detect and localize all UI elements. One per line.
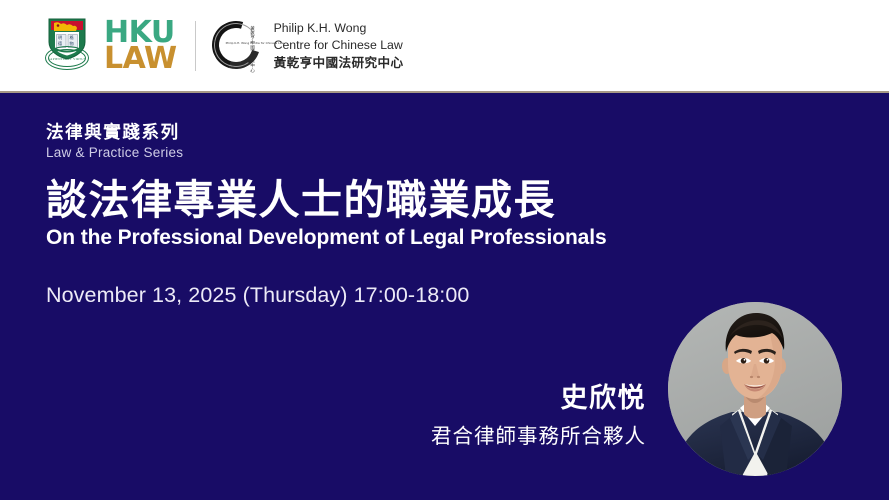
series-title-zh: 法律與實踐系列 [46, 119, 180, 144]
logo-row: 明德 格物 SAPIENTIA ET VIRTUS HKU LAW Phi [44, 16, 404, 76]
speaker-name: 史欣悦 [561, 376, 647, 415]
event-title-zh: 談法律專業人士的職業成長 [46, 178, 556, 223]
hku-law-wordmark: HKU LAW [104, 20, 177, 73]
event-datetime: November 13, 2025 (Thursday) 17:00-18:00 [46, 283, 470, 308]
series-title-en: Law & Practice Series [46, 145, 183, 160]
hku-crest-icon: 明德 格物 SAPIENTIA ET VIRTUS [44, 16, 90, 76]
enso-vertical-text: 黃乾亨中國法研究中心 [249, 28, 257, 74]
event-poster: 明德 格物 SAPIENTIA ET VIRTUS HKU LAW Phi [0, 0, 889, 500]
logo-divider [195, 21, 196, 71]
header-band: 明德 格物 SAPIENTIA ET VIRTUS HKU LAW Phi [0, 0, 889, 92]
wordmark-law: LAW [104, 46, 177, 72]
enso-brush-circle-icon: Philip K.H. Wong Centre for Chinese Law … [210, 18, 264, 74]
centre-name-block: Philip K.H. Wong Centre for Chinese Law … [274, 20, 404, 73]
speaker-portrait [668, 302, 842, 476]
crest-motto: SAPIENTIA ET VIRTUS [44, 57, 90, 61]
centre-name-line1: Philip K.H. Wong [274, 20, 404, 37]
event-title-en: On the Professional Development of Legal… [46, 226, 607, 250]
centre-name-line2: Centre for Chinese Law [274, 37, 404, 54]
speaker-role: 君合律師事務所合夥人 [431, 419, 646, 449]
centre-name-line3: 黃乾亨中國法研究中心 [274, 55, 404, 73]
